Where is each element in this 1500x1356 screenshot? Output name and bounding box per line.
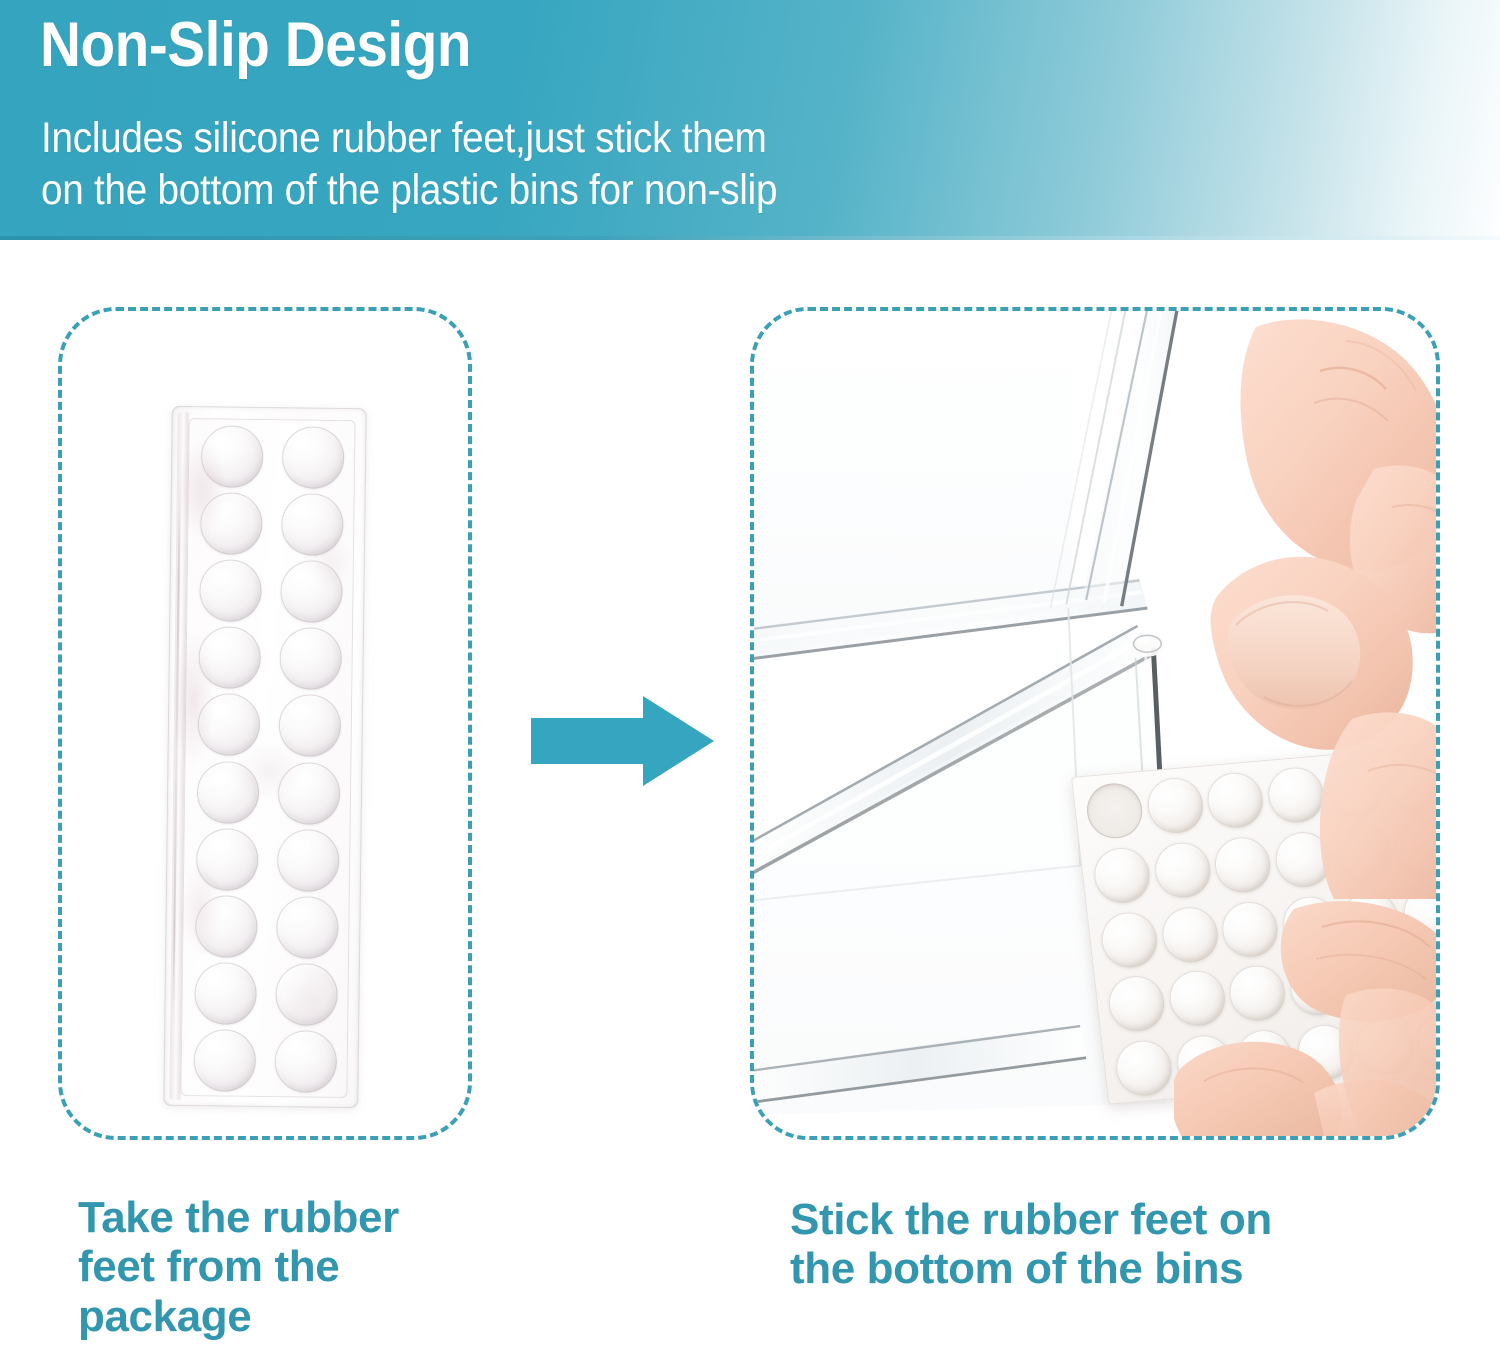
step-2-caption-line-2: the bottom of the bins xyxy=(790,1244,1430,1293)
step-1-caption: Take the rubber feet from the package xyxy=(78,1193,508,1341)
rubber-foot xyxy=(198,694,261,757)
rubber-foot xyxy=(201,425,264,488)
rubber-foot xyxy=(274,1030,337,1093)
blister-pack-image xyxy=(163,406,367,1108)
rubber-foot xyxy=(275,963,338,1026)
step-1-image-panel xyxy=(58,307,472,1140)
rubber-foot xyxy=(277,762,340,825)
rubber-foot xyxy=(1113,1039,1174,1098)
page-title: Non-Slip Design xyxy=(40,14,471,77)
rubber-foot xyxy=(277,829,340,892)
bin-and-hands-photo xyxy=(754,311,1436,1136)
rubber-foot xyxy=(194,962,257,1025)
rubber-foot xyxy=(199,627,262,690)
rubber-foot xyxy=(200,492,263,555)
rubber-foot xyxy=(197,761,260,824)
header-subtitle: Includes silicone rubber feet,just stick… xyxy=(41,112,1141,217)
rubber-foot xyxy=(199,559,262,622)
rubber-foot xyxy=(196,828,259,891)
step-2-caption: Stick the rubber feet on the bottom of t… xyxy=(790,1195,1430,1294)
lower-hand xyxy=(1174,781,1440,1140)
infographic-page: Non-Slip Design Includes silicone rubber… xyxy=(0,0,1500,1356)
arrow-right-icon xyxy=(531,696,714,786)
rubber-foot xyxy=(195,895,258,958)
rubber-foot xyxy=(282,426,345,489)
rubber-foot xyxy=(276,896,339,959)
rubber-foot xyxy=(279,628,342,691)
step-2-image-panel xyxy=(750,307,1440,1140)
header-banner: Non-Slip Design Includes silicone rubber… xyxy=(0,0,1500,240)
rubber-foot xyxy=(280,560,343,623)
rubber-foot xyxy=(1099,910,1160,969)
step-1-caption-line-3: package xyxy=(78,1292,508,1341)
step-1-caption-line-1: Take the rubber xyxy=(78,1193,508,1242)
step-2-caption-line-1: Stick the rubber feet on xyxy=(790,1195,1430,1244)
rubber-foot xyxy=(194,1029,257,1092)
header-subtitle-line-1: Includes silicone rubber feet,just stick… xyxy=(41,112,1031,164)
rubber-foot xyxy=(1106,974,1167,1033)
rubber-foot xyxy=(278,695,341,758)
header-subtitle-line-2: on the bottom of the plastic bins for no… xyxy=(41,164,1031,216)
step-1-caption-line-2: feet from the xyxy=(78,1242,508,1291)
rubber-foot xyxy=(281,493,344,556)
clear-rubber-feet-grid xyxy=(185,424,352,1094)
